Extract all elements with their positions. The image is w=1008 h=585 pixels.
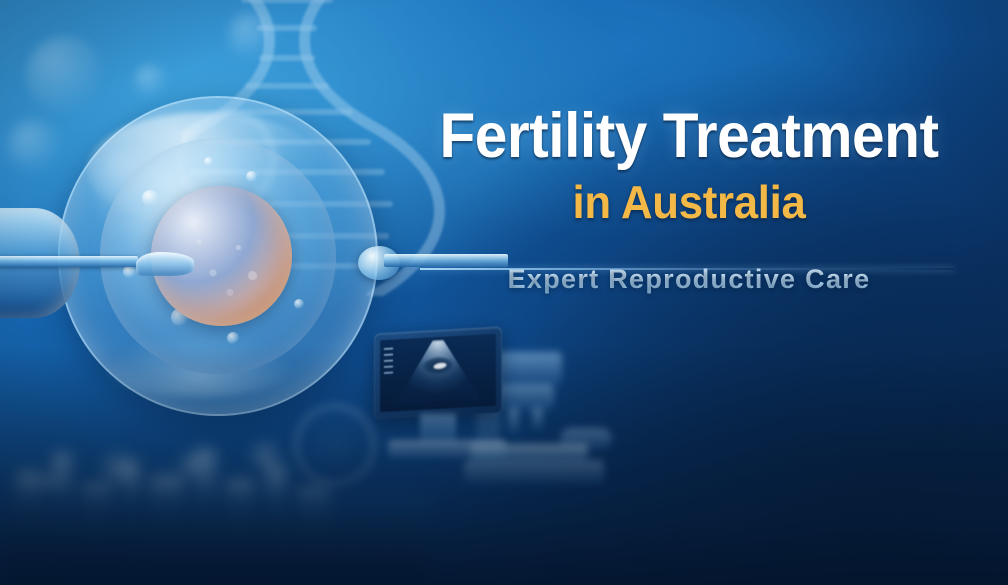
headline-text-block: Fertility Treatment in Australia Expert … (418, 104, 960, 295)
fertility-treatment-banner: Fertility Treatment in Australia Expert … (0, 0, 1008, 585)
page-title: Fertility Treatment (437, 104, 941, 170)
divider (420, 268, 954, 270)
bottom-shade-overlay (0, 345, 1008, 585)
page-subtitle: in Australia (432, 178, 947, 227)
